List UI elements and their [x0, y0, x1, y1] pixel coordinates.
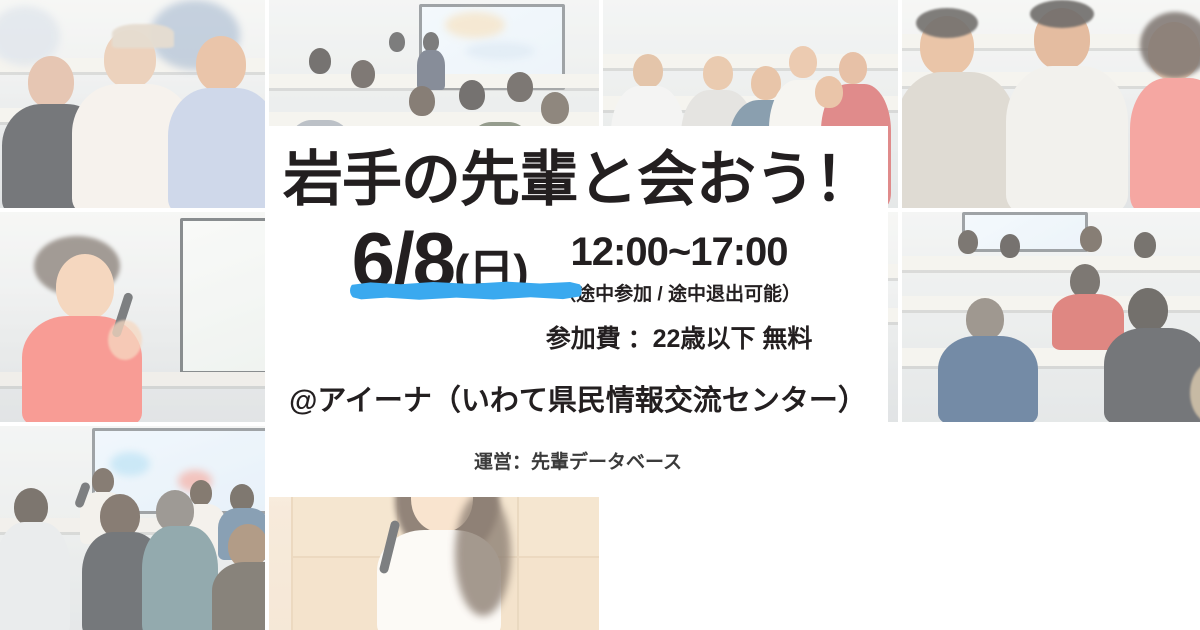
event-time-note: （途中参加 / 途中退出可能）	[557, 279, 801, 306]
photo-top-right	[902, 0, 1200, 208]
photo-middle-left	[0, 212, 265, 422]
page-title: 岩手の先輩と会おう！	[283, 150, 873, 210]
date-time-row: 6/8(日) 12:00~17:00 （途中参加 / 途中退出可能） 参加費 ：…	[268, 220, 888, 355]
photo-bottom-center-left	[902, 212, 1200, 422]
event-poster: 岩手の先輩と会おう！ 6/8(日) 12:00~17:00 （途中参加 / 途中…	[0, 0, 1200, 630]
info-card: 岩手の先輩と会おう！ 6/8(日) 12:00~17:00 （途中参加 / 途中…	[268, 126, 888, 497]
event-venue: @アイーナ（いわて県民情報交流センター）	[289, 377, 867, 419]
date-block: 6/8(日)	[344, 220, 532, 302]
time-fee-block: 12:00~17:00 （途中参加 / 途中退出可能） 参加費 ：22歳以下 無…	[546, 220, 813, 355]
photo-bottom-center-right	[0, 426, 265, 630]
blue-underline-brush	[350, 281, 582, 300]
event-organizer: 運営：先輩データベース	[474, 447, 682, 474]
event-fee: 参加費 ：22歳以下 無料	[546, 319, 813, 355]
photo-top-left	[0, 0, 265, 208]
event-time: 12:00~17:00	[571, 230, 788, 275]
